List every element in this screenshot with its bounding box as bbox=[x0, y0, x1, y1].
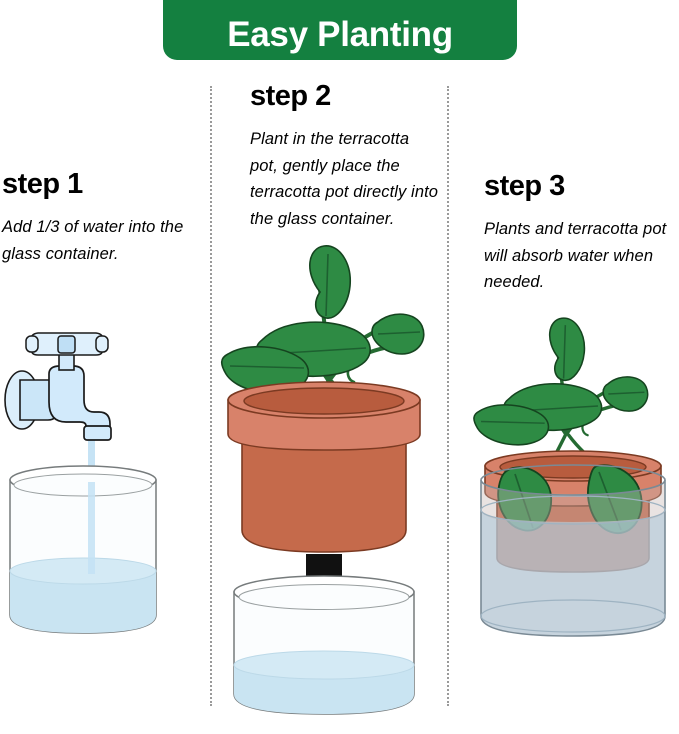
step-3-column: step 3 Plants and terracotta pot will ab… bbox=[449, 0, 679, 734]
plant-group bbox=[474, 318, 648, 468]
step-2-title: step 2 bbox=[250, 82, 331, 111]
glass-rim-inner bbox=[239, 585, 409, 610]
faucet-handle-cap-left bbox=[26, 336, 38, 352]
step-3-illustration bbox=[463, 320, 679, 660]
step-2-description: Plant in the terracotta pot, gently plac… bbox=[250, 126, 440, 233]
faucet-body bbox=[49, 366, 110, 434]
step-2-column: step 2 Plant in the terracotta pot, gent… bbox=[212, 0, 447, 734]
step-1-illustration bbox=[0, 330, 200, 660]
step-1-description: Add 1/3 of water into the glass containe… bbox=[2, 214, 188, 267]
water-stream-inner bbox=[88, 482, 95, 574]
faucet-handle-cap-right bbox=[96, 336, 108, 352]
pot-inner-opening bbox=[244, 388, 404, 414]
step-2-illustration bbox=[216, 248, 446, 728]
step-3-description: Plants and terracotta pot will absorb wa… bbox=[484, 216, 676, 296]
water-surface bbox=[234, 651, 414, 679]
faucet-handle-hub bbox=[58, 336, 75, 353]
terracotta-pot bbox=[228, 382, 420, 552]
leaf-top bbox=[550, 318, 585, 380]
leaf-top bbox=[310, 246, 350, 318]
step-1-title: step 1 bbox=[2, 170, 83, 199]
glass-container-lower bbox=[234, 576, 414, 714]
glass-water-translucent bbox=[481, 508, 665, 636]
step-3-title: step 3 bbox=[484, 172, 565, 201]
glass-rim-inner bbox=[14, 474, 152, 496]
faucet-spout bbox=[84, 426, 111, 440]
water-surface bbox=[10, 558, 156, 584]
step-1-column: step 1 Add 1/3 of water into the glass c… bbox=[0, 0, 210, 734]
